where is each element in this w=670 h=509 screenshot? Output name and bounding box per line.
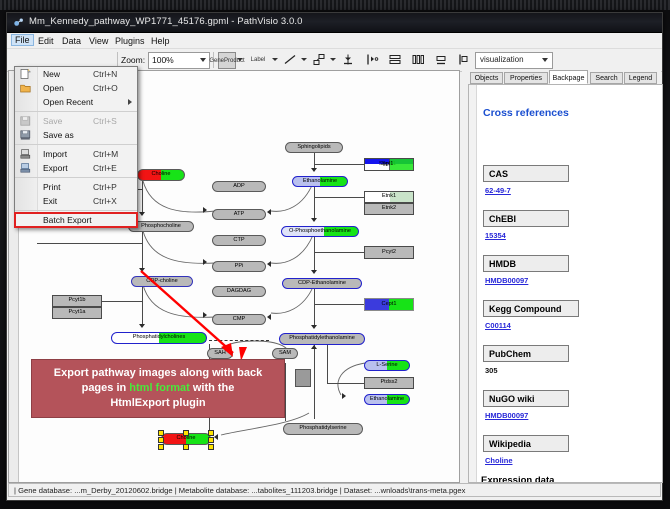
selection-handle[interactable] — [158, 437, 164, 443]
node-label: Phosphatidylethanolamine — [289, 336, 355, 342]
menu-item-new[interactable]: New Ctrl+N — [15, 67, 137, 81]
node-label: Ethanolamine — [370, 397, 404, 403]
node-atp[interactable]: ATP — [212, 209, 266, 220]
ref-value-hmdb[interactable]: HMDB00097 — [485, 276, 528, 285]
menu-item-import[interactable]: Import Ctrl+M — [15, 147, 137, 161]
label-button[interactable]: Label — [247, 52, 269, 67]
edge-ptdetn-branch — [327, 345, 328, 383]
panel-scrollbar[interactable] — [469, 85, 477, 482]
node-gene-pcyt2[interactable]: Pcyt2 — [364, 246, 414, 259]
selection-handle[interactable] — [208, 444, 214, 450]
node-cdp-ethanolamine[interactable]: CDP-Ethanolamine — [282, 278, 362, 289]
selection-handle[interactable] — [158, 444, 164, 450]
side-panel: Objects Properties Backpage Search Legen… — [462, 70, 661, 481]
anchor-dropdown-arrow[interactable] — [330, 58, 336, 61]
node-label: Etnk1 — [382, 194, 396, 200]
ref-db-kegg: Kegg Compound — [483, 300, 579, 317]
tab-backpage[interactable]: Backpage — [549, 70, 588, 84]
menu-label: Export — [43, 163, 68, 173]
tab-search[interactable]: Search — [590, 72, 623, 84]
align-center-icon[interactable] — [341, 52, 355, 67]
stack-icon[interactable] — [388, 52, 402, 67]
menu-label: Print — [43, 182, 60, 192]
menu-bar: File Edit Data View Plugins Help — [7, 33, 662, 49]
label-caption: Label — [251, 57, 266, 63]
node-label: O-Phosphoethanolamine — [289, 229, 351, 235]
line-dropdown-arrow[interactable] — [301, 58, 307, 61]
menu-separator — [15, 144, 137, 145]
export-icon — [20, 163, 31, 173]
node-phosphatidylserine[interactable]: Phosphatidylserine — [283, 423, 363, 435]
cofactor-curves-etn — [267, 181, 317, 221]
selection-handle[interactable] — [183, 444, 189, 450]
serine-branch-curve — [327, 359, 369, 403]
align-left-icon[interactable] — [365, 52, 379, 67]
menu-label: New — [43, 69, 60, 79]
selection-handle[interactable] — [208, 430, 214, 436]
cross-references-heading: Cross references — [483, 107, 569, 119]
node-adp[interactable]: ADP — [212, 181, 266, 192]
tab-objects[interactable]: Objects — [470, 72, 503, 84]
callout-line3: HtmlExport plugin — [110, 397, 205, 409]
node-gene-pcyt1b[interactable]: Pcyt1b — [52, 295, 102, 307]
screenshot-root: Mm_Kennedy_pathway_WP1771_45176.gpml - P… — [0, 0, 670, 509]
node-gene-etnk2[interactable]: Etnk2 — [364, 203, 414, 215]
datanode-button[interactable]: GeneProduct — [218, 52, 236, 69]
edge-gene-pcyt2 — [314, 252, 364, 253]
node-label: Sgpl1 — [379, 161, 393, 167]
callout-line2-after: with the — [190, 382, 235, 394]
arrow-icon — [267, 209, 271, 215]
arrow-icon — [203, 207, 207, 213]
node-label: Etnk2 — [382, 206, 396, 212]
menu-item-print[interactable]: Print Ctrl+P — [15, 180, 137, 194]
ref-value-wikipedia[interactable]: Choline — [485, 456, 513, 465]
panel-tab-strip: Objects Properties Backpage Search Legen… — [462, 70, 661, 84]
node-ethanolamine-top[interactable]: Ethanolamine — [292, 176, 348, 187]
expression-swatch-gray — [295, 369, 311, 387]
node-label: Phosphocholine — [141, 224, 181, 230]
callout-highlight: html format — [129, 382, 190, 394]
edge-ptdetn-ptdser — [314, 345, 315, 419]
ref-db-hmdb: HMDB — [483, 255, 569, 272]
menu-item-export[interactable]: Export Ctrl+E — [15, 161, 137, 175]
edge-gene-sgpl1 — [314, 164, 364, 165]
node-phosphatidylethanolamine[interactable]: Phosphatidylethanolamine — [279, 333, 365, 345]
ref-db-label: Kegg Compound — [489, 304, 562, 314]
distribute-icon[interactable] — [411, 52, 425, 67]
ref-db-wikipedia: Wikipedia — [483, 435, 569, 452]
ref-db-label: PubChem — [489, 349, 531, 359]
zoom-combo[interactable]: 100% — [148, 52, 210, 69]
ref-value-cas[interactable]: 62-49-7 — [485, 186, 511, 195]
node-label: Cept1 — [382, 302, 397, 308]
open-folder-icon — [20, 83, 31, 93]
node-label: Ethanolamine — [303, 179, 337, 185]
edge-gene-cept1 — [314, 304, 364, 305]
annotation-callout: Export pathway images along with back pa… — [31, 359, 285, 418]
zoom-value: 100% — [152, 55, 174, 65]
selection-handle[interactable] — [208, 437, 214, 443]
node-label: Choline — [152, 172, 171, 178]
group-icon[interactable] — [456, 52, 470, 67]
chevron-down-icon — [542, 58, 548, 62]
callout-line1: Export pathway images along with back — [54, 367, 262, 379]
edge-ptdss2 — [327, 383, 365, 384]
node-sphingolipids[interactable]: Sphingolipids — [285, 142, 343, 153]
pathvisio-icon — [13, 17, 24, 28]
zoom-label: Zoom: — [121, 55, 145, 65]
menu-label: Exit — [43, 196, 57, 206]
arrow-icon — [311, 345, 317, 349]
callout-line2-before: pages in — [82, 382, 130, 394]
node-gene-etnk1[interactable]: Etnk1 — [364, 191, 414, 203]
application-window: Mm_Kennedy_pathway_WP1771_45176.gpml - P… — [6, 12, 663, 501]
ref-value-pubchem: 305 — [485, 366, 498, 375]
node-label: Pcyt2 — [382, 250, 396, 256]
ref-db-nugo: NuGO wiki — [483, 390, 569, 407]
node-gene-ptdss2[interactable]: Ptdss2 — [364, 377, 414, 389]
ref-value-nugo[interactable]: HMDB00097 — [485, 411, 528, 420]
node-gene-pcyt1a[interactable]: Pcyt1a — [52, 307, 102, 319]
menu-accel: Ctrl+O — [93, 83, 118, 93]
menu-separator — [15, 210, 137, 211]
menu-label: Open Recent — [43, 97, 93, 107]
menu-accel: Ctrl+X — [93, 196, 117, 206]
menu-accel: Ctrl+P — [93, 182, 117, 192]
arrow-icon — [203, 259, 207, 265]
menu-item-open[interactable]: Open Ctrl+O — [15, 81, 137, 95]
window-title: Mm_Kennedy_pathway_WP1771_45176.gpml - P… — [29, 16, 303, 27]
backpage-content: Cross references CAS 62-49-7 ChEBI 15354… — [468, 84, 663, 483]
menu-accel: Ctrl+M — [93, 149, 118, 159]
title-bar: Mm_Kennedy_pathway_WP1771_45176.gpml - P… — [7, 13, 662, 33]
selection-handle[interactable] — [183, 430, 189, 436]
node-label: CTP — [233, 238, 244, 244]
ref-db-label: CAS — [489, 169, 508, 179]
ref-db-label: Wikipedia — [489, 439, 531, 449]
ref-value-chebi[interactable]: 15354 — [485, 231, 506, 240]
ref-db-label: NuGO wiki — [489, 394, 535, 404]
ref-db-label: ChEBI — [489, 214, 516, 224]
menu-accel: Ctrl+S — [93, 116, 117, 126]
menu-item-open-recent[interactable]: Open Recent — [15, 95, 137, 109]
arrow-icon — [342, 393, 346, 399]
menu-edit[interactable]: Edit — [34, 35, 58, 47]
label-dropdown-arrow[interactable] — [272, 58, 278, 61]
node-gene-cept1[interactable]: Cept1 — [364, 298, 414, 311]
menu-accel: Ctrl+N — [93, 69, 117, 79]
file-menu-dropdown[interactable]: New Ctrl+N Open Ctrl+O Open Recent Save … — [14, 66, 138, 228]
menu-data[interactable]: Data — [58, 35, 85, 47]
menu-file[interactable]: File — [11, 34, 34, 46]
chevron-down-icon — [200, 58, 206, 62]
node-label: SAM — [279, 351, 291, 357]
node-label: ATP — [234, 212, 244, 218]
visualization-combo[interactable]: visualization — [475, 52, 553, 69]
ref-value-kegg[interactable]: C00114 — [485, 321, 511, 330]
arrow-icon — [267, 261, 271, 267]
node-label: CDP-Ethanolamine — [298, 281, 346, 287]
size-icon[interactable] — [434, 52, 448, 67]
tab-legend[interactable]: Legend — [624, 72, 657, 84]
cofactor-curves-cdpetn — [267, 285, 317, 323]
menu-item-exit[interactable]: Exit Ctrl+X — [15, 194, 137, 208]
node-o-phosphoethanolamine[interactable]: O-Phosphoethanolamine — [281, 226, 359, 237]
menu-label: Import — [43, 149, 67, 159]
menu-label: Open — [43, 83, 64, 93]
visualization-value: visualization — [480, 55, 524, 64]
menu-separator — [15, 111, 137, 112]
edge-gene-etnk — [314, 197, 364, 198]
desktop-top-stripe — [0, 0, 670, 10]
node-ctp[interactable]: CTP — [212, 235, 266, 246]
node-ethanolamine-bottom[interactable]: Ethanolamine — [364, 394, 410, 405]
menu-label: Save — [43, 116, 62, 126]
node-choline-top[interactable]: Choline — [137, 169, 185, 181]
node-l-serine[interactable]: L-Serine — [364, 360, 410, 371]
anchor-tool-icon[interactable] — [312, 52, 326, 67]
node-label: Phosphatidylserine — [299, 426, 346, 432]
menu-view[interactable]: View — [85, 35, 112, 47]
menu-separator — [15, 177, 137, 178]
node-label: Pcyt1a — [68, 310, 85, 316]
import-icon — [20, 149, 31, 159]
selection-handle[interactable] — [158, 430, 164, 436]
new-file-icon — [20, 69, 31, 79]
tab-properties[interactable]: Properties — [504, 72, 548, 84]
menu-help[interactable]: Help — [147, 35, 174, 47]
submenu-arrow-icon — [128, 99, 132, 105]
menu-label: Batch Export — [43, 215, 92, 225]
status-text: | Gene database: ...m_Derby_20120602.bri… — [14, 486, 465, 495]
ref-db-pubchem: PubChem — [483, 345, 569, 362]
save-disk-icon — [20, 116, 31, 126]
node-label: Sphingolipids — [297, 145, 330, 151]
ref-db-cas: CAS — [483, 165, 569, 182]
node-label: L-Serine — [376, 363, 397, 369]
ref-db-chebi: ChEBI — [483, 210, 569, 227]
arrow-icon — [214, 434, 218, 440]
menu-item-save: Save Ctrl+S — [15, 114, 137, 128]
node-label: ADP — [233, 184, 245, 190]
arrow-icon — [267, 314, 271, 320]
arrow-icon — [311, 325, 317, 329]
menu-label: Save as — [43, 130, 74, 140]
edge-gene-pcyt1 — [102, 301, 142, 302]
menu-plugins[interactable]: Plugins — [111, 35, 149, 47]
save-as-icon — [20, 130, 31, 140]
expression-data-heading: Expression data — [481, 475, 554, 483]
cofactor-curves-ophospho — [267, 233, 317, 273]
node-label: Choline — [177, 436, 196, 442]
node-label: Pcyt1b — [68, 298, 85, 304]
menu-accel: Ctrl+E — [93, 163, 117, 173]
status-bar: | Gene database: ...m_Derby_20120602.bri… — [8, 483, 661, 497]
node-label: Ptdss2 — [380, 380, 397, 386]
arrow-icon — [311, 168, 317, 172]
edge-left-2 — [37, 243, 142, 244]
menu-item-save-as[interactable]: Save as — [15, 128, 137, 142]
edge-sphingo-ethanolamine — [314, 153, 315, 169]
menu-item-batch-export[interactable]: Batch Export — [15, 213, 137, 227]
datanode-dropdown-arrow[interactable] — [237, 58, 243, 61]
node-sam[interactable]: SAM — [272, 348, 298, 359]
line-tool-icon[interactable] — [283, 52, 297, 67]
ref-db-label: HMDB — [489, 259, 516, 269]
